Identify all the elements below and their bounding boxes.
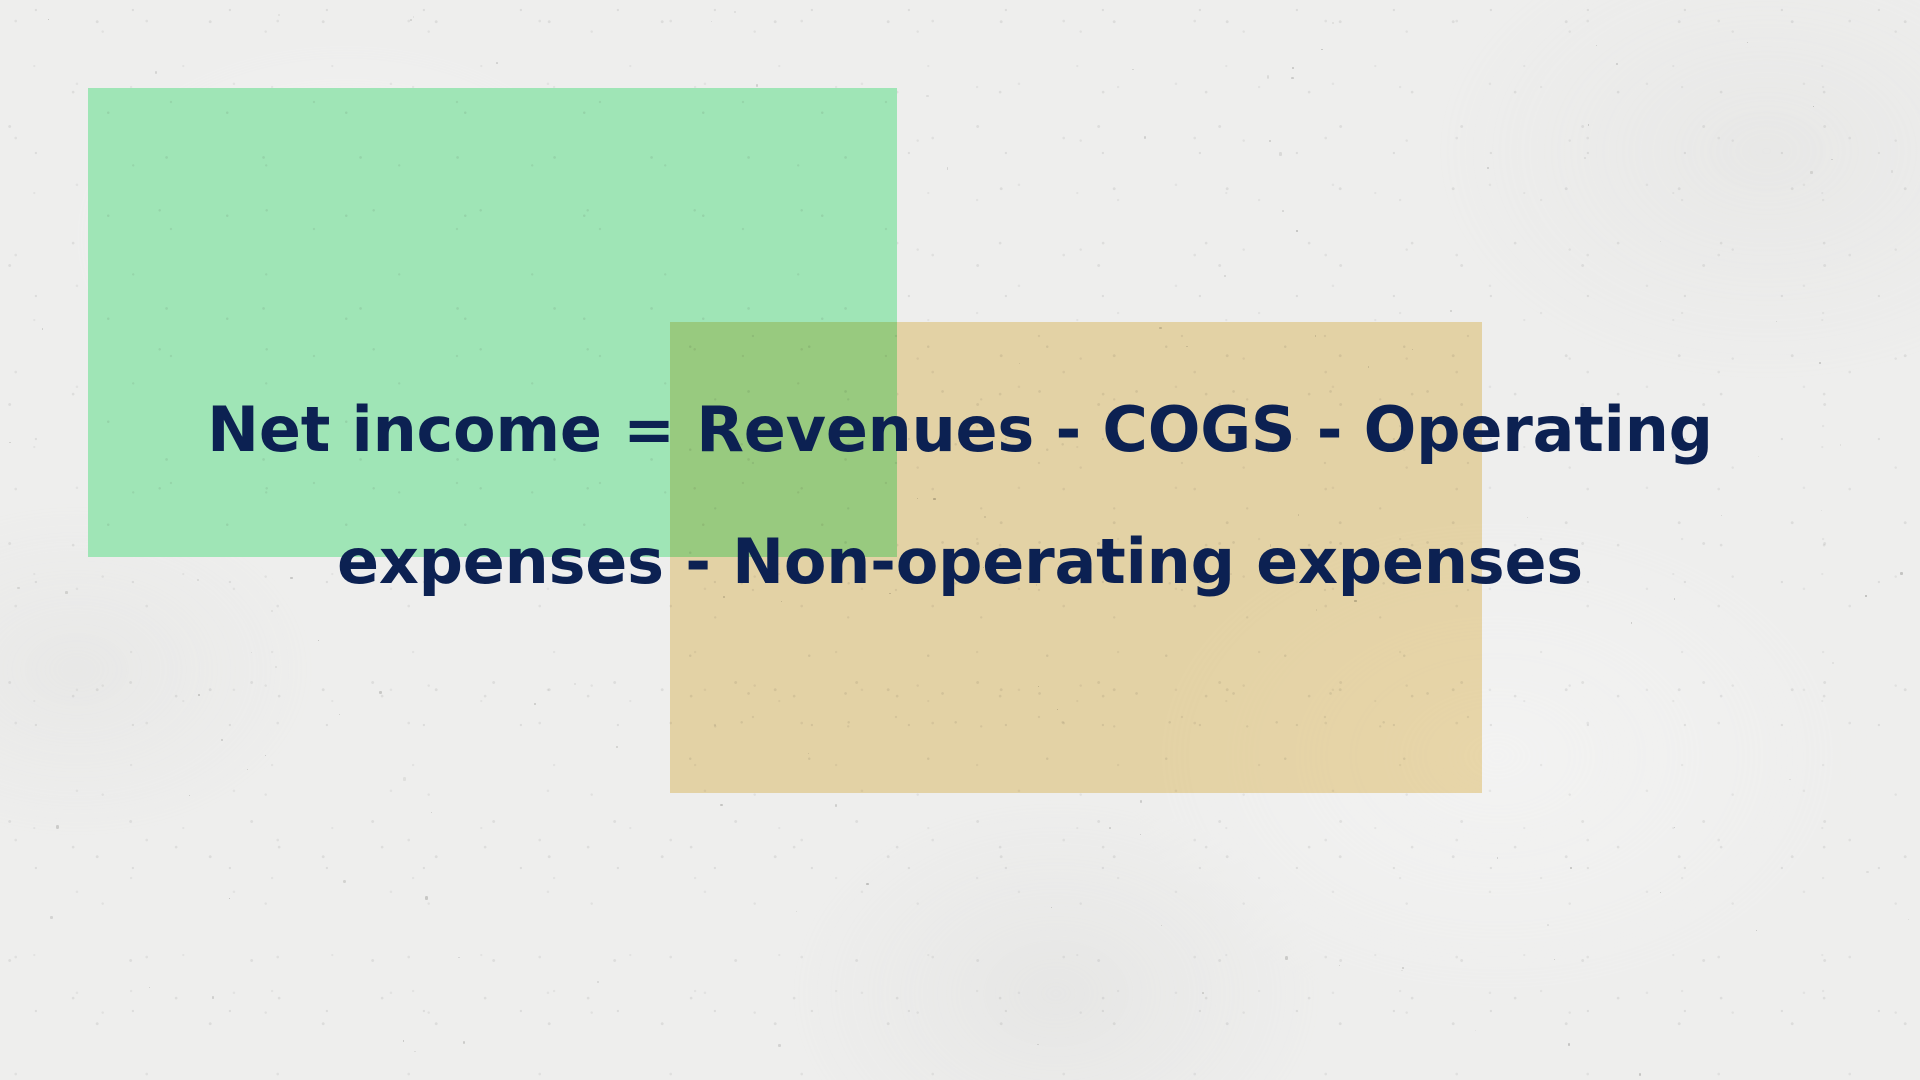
paper-speck [835, 804, 837, 806]
paper-speck [866, 883, 869, 885]
paper-speck [1674, 827, 1675, 828]
paper-speck [1891, 170, 1893, 172]
paper-speck [339, 714, 340, 715]
paper-speck [229, 898, 230, 899]
paper-speck [414, 1051, 416, 1052]
paper-speck [275, 666, 278, 668]
paper-speck [734, 11, 736, 12]
paper-speck [1321, 49, 1323, 50]
paper-speck [463, 1041, 466, 1044]
paper-speck [1588, 124, 1590, 126]
paper-speck [1401, 970, 1403, 971]
paper-speck [1660, 892, 1661, 893]
paper-speck [796, 911, 797, 912]
paper-speck [1554, 959, 1556, 960]
paper-speck [496, 62, 498, 64]
paper-speck [1475, 1030, 1476, 1031]
paper-speck [1269, 140, 1271, 143]
paper-speck [431, 812, 432, 813]
headline-line-1: Net income = Revenues - COGS - Operating [140, 383, 1780, 477]
paper-speck [756, 84, 758, 87]
paper-speck [1789, 779, 1790, 780]
paper-speck [50, 916, 53, 919]
paper-speck [1332, 22, 1334, 24]
paper-speck [425, 896, 428, 899]
paper-speck [1291, 77, 1294, 79]
paper-speck [56, 825, 59, 829]
paper-speck [1747, 42, 1748, 43]
paper-speck [1568, 1043, 1571, 1045]
headline-line-2: expenses - Non-operating expenses [140, 515, 1780, 609]
paper-speck [9, 442, 11, 443]
paper-speck [778, 1044, 781, 1046]
paper-speck [926, 95, 929, 97]
headline: Net income = Revenues - COGS - Operating… [140, 345, 1780, 647]
paper-speck [1660, 241, 1661, 242]
paper-speck [711, 21, 712, 22]
paper-speck [1810, 171, 1812, 174]
paper-speck [343, 880, 346, 883]
paper-speck [410, 19, 412, 21]
paper-speck [1282, 210, 1284, 212]
paper-speck [574, 683, 576, 685]
paper-speck [534, 703, 536, 705]
paper-speck [1144, 136, 1146, 139]
paper-speck [1450, 310, 1452, 312]
paper-speck [65, 591, 68, 593]
paper-speck [149, 987, 150, 988]
paper-speck [265, 755, 266, 756]
paper-speck [1616, 63, 1619, 66]
paper-speck [1140, 834, 1141, 835]
paper-speck [458, 957, 460, 958]
paper-speck [251, 652, 253, 654]
paper-speck [1865, 595, 1867, 597]
paper-speck [403, 1040, 404, 1041]
paper-speck [1402, 967, 1404, 969]
paper-speck [221, 739, 222, 741]
paper-speck [1866, 871, 1869, 873]
paper-speck [597, 981, 599, 983]
paper-speck [1831, 159, 1832, 161]
paper-speck [1487, 167, 1489, 168]
paper-speck [48, 19, 49, 20]
paper-speck [1224, 275, 1226, 277]
paper-speck [1821, 510, 1822, 511]
paper-speck [403, 777, 406, 781]
paper-speck [1285, 956, 1288, 959]
paper-speck [1639, 1073, 1641, 1076]
paper-speck [1339, 965, 1340, 966]
paper-speck [1497, 857, 1499, 859]
paper-speck [413, 16, 414, 17]
paper-speck [198, 694, 200, 696]
paper-speck [379, 691, 381, 694]
paper-speck [1267, 75, 1270, 79]
paper-speck [1596, 45, 1597, 47]
paper-speck [212, 996, 214, 998]
paper-speck [1819, 362, 1821, 365]
paper-speck [1292, 67, 1294, 69]
paper-speck [1037, 1044, 1039, 1045]
slide-canvas: Net income = Revenues - COGS - Operating… [0, 0, 1920, 1080]
paper-speck [1161, 925, 1162, 926]
paper-speck [1570, 867, 1572, 869]
paper-speck [1756, 930, 1757, 931]
paper-speck [1132, 69, 1134, 71]
paper-speck [1584, 157, 1585, 158]
paper-speck [247, 769, 248, 770]
paper-speck [947, 167, 949, 169]
paper-speck [1547, 924, 1549, 926]
paper-speck [1140, 800, 1142, 803]
paper-speck [1840, 444, 1842, 446]
paper-speck [1908, 919, 1909, 920]
paper-speck [42, 328, 43, 330]
paper-speck [1109, 827, 1112, 829]
paper-speck [1202, 992, 1205, 994]
paper-speck [1051, 907, 1052, 908]
paper-speck [1832, 662, 1834, 664]
paper-speck [155, 71, 157, 74]
paper-speck [1279, 152, 1281, 155]
paper-speck [17, 587, 19, 590]
paper-speck [1776, 321, 1777, 322]
paper-speck [1900, 572, 1903, 575]
paper-speck [616, 746, 619, 749]
paper-speck [278, 14, 280, 16]
paper-speck [720, 804, 723, 806]
paper-speck [1813, 106, 1814, 107]
paper-speck [189, 795, 190, 796]
paper-speck [1296, 230, 1298, 232]
